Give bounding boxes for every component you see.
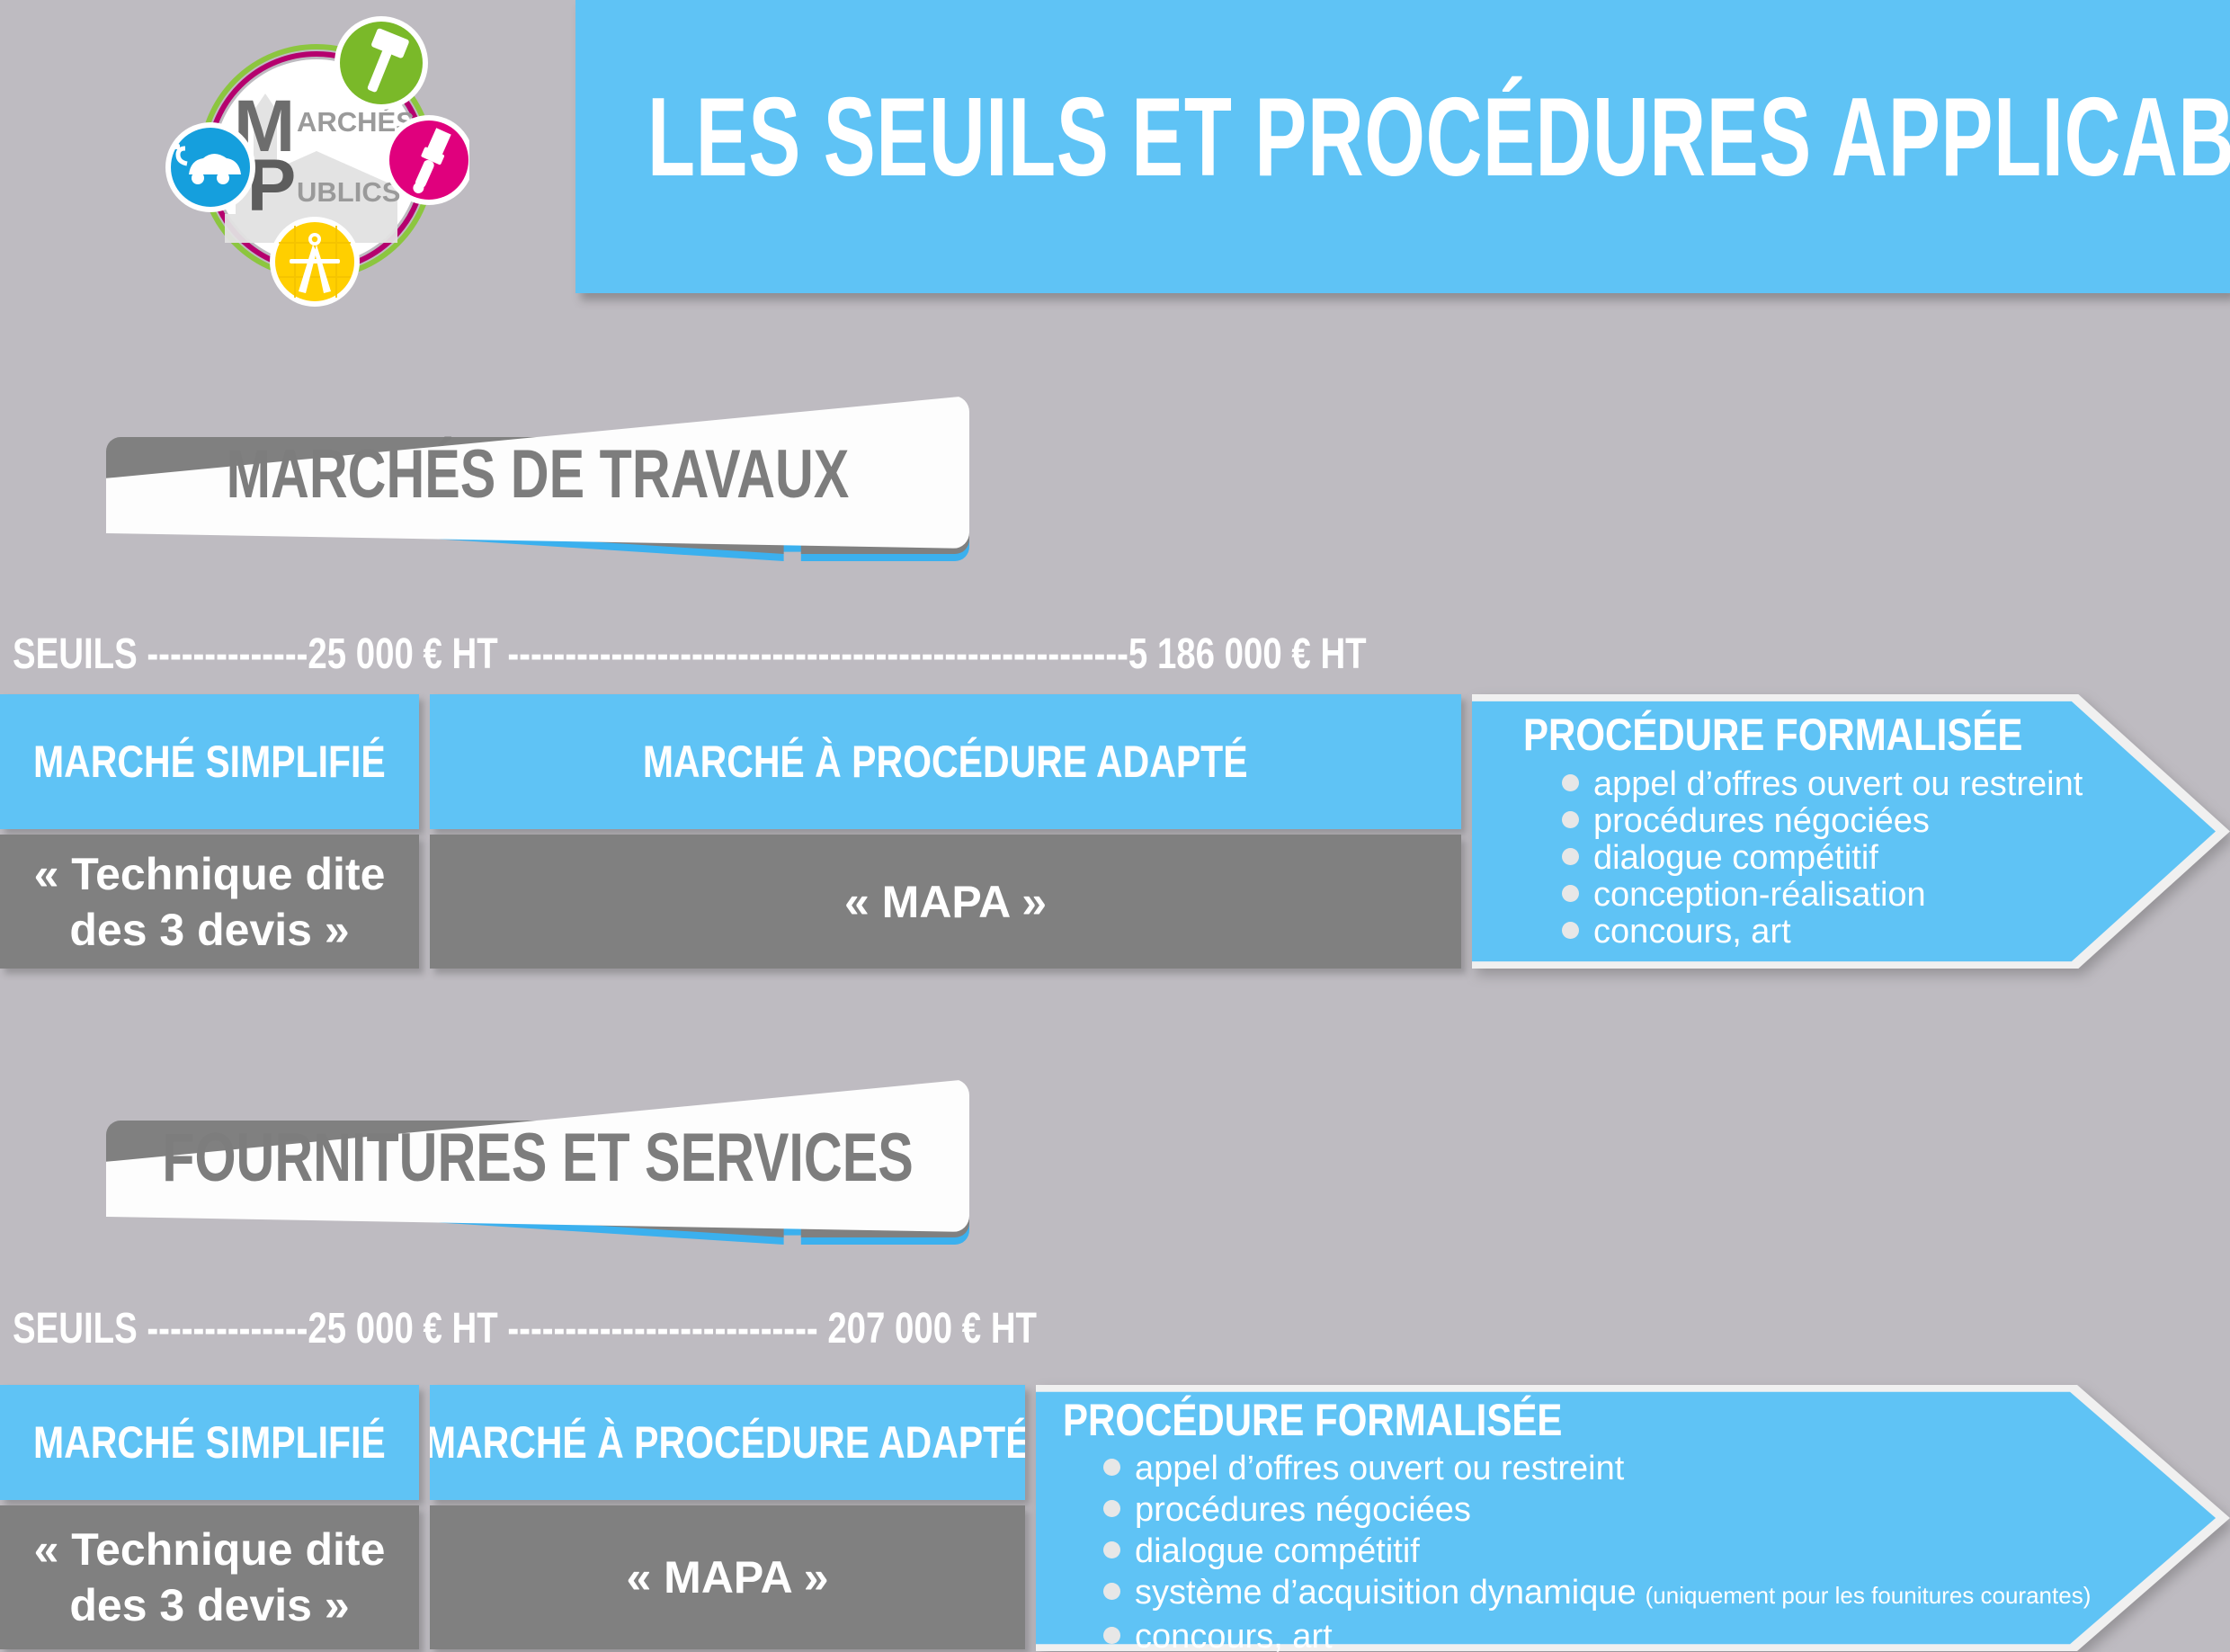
svg-text:UBLICS: UBLICS [297,176,400,208]
bullet-dot-icon [1103,1627,1120,1644]
section-ribbon-travaux: MARCHÉS DE TRAVAUX [106,396,969,576]
list-item: dialogue compétitif [1562,840,2083,877]
list-item-text: dialogue compétitif [1593,840,1878,877]
arrow-procedure-formalisee-travaux: PROCÉDURE FORMALISÉE appel d’offres ouve… [1472,694,2230,969]
cell-body-label: « Technique dite des 3 devis » [0,1522,419,1633]
marches-publics-logo: M ARCHÉS P UBLICS [164,7,469,313]
list-item-text: procédures négociées [1593,803,1930,840]
list-item-text: concours, art [1593,914,1791,951]
arrow-title: PROCÉDURE FORMALISÉE [1063,1396,1562,1444]
arrow-bullet-list: appel d’offres ouvert ou restreint procé… [1562,766,2083,951]
list-item-text: conception-réalisation [1593,877,1926,914]
header-banner: LES SEUILS ET PROCÉDURES APPLICABLES [575,0,2230,293]
seuils-line-travaux: SEUILS --------------25 000 € HT -------… [13,631,1367,678]
cell-body-technique-3-devis: « Technique dite des 3 devis » [0,835,419,969]
electric-vehicle-icon [165,122,255,212]
svg-text:P: P [247,145,297,227]
list-item: concours, art [1103,1616,2091,1652]
list-item: appel d’offres ouvert ou restreint [1103,1448,2091,1489]
cell-head-label: MARCHÉ À PROCÉDURE ADAPTÉ [430,1418,1025,1467]
procedures-band-travaux: MARCHÉ SIMPLIFIÉ « Technique dite des 3 … [0,694,2230,969]
slide-canvas: LES SEUILS ET PROCÉDURES APPLICABLES M A… [0,0,2230,1652]
hammer-icon [334,16,428,110]
list-item: procédures négociées [1562,803,2083,840]
compass-icon [270,217,360,307]
list-item-note: (uniquement pour les founitures courante… [1646,1575,2092,1616]
bullet-dot-icon [1562,885,1579,902]
list-item-text: concours, art [1135,1616,1333,1652]
ribbon-label-fournitures: FOURNITURES ET SERVICES [201,1079,875,1232]
list-item-text: dialogue compétitif [1135,1531,1420,1572]
cell-head-marche-simplifie: MARCHÉ SIMPLIFIÉ [0,1385,419,1500]
list-item-text: système d’acquisition dynamique [1135,1572,1637,1613]
bullet-dot-icon [1562,774,1579,791]
cell-head-marche-procedure-adapte: MARCHÉ À PROCÉDURE ADAPTÉ [430,694,1461,829]
cell-body-technique-3-devis: « Technique dite des 3 devis » [0,1505,419,1649]
cell-body-label: « MAPA » [835,874,1056,930]
ribbon-label-travaux: MARCHÉS DE TRAVAUX [201,396,875,549]
list-item: système d’acquisition dynamique (uniquem… [1103,1572,2091,1616]
cell-body-label: « MAPA » [617,1549,837,1605]
list-item: dialogue compétitif [1103,1531,2091,1572]
list-item: conception-réalisation [1562,877,2083,914]
bullet-dot-icon [1562,811,1579,828]
list-item-text: procédures négociées [1135,1489,1471,1531]
page-title: LES SEUILS ET PROCÉDURES APPLICABLES [647,70,1736,214]
seuils-line-fournitures: SEUILS --------------25 000 € HT -------… [13,1306,1037,1353]
bullet-dot-icon [1103,1500,1120,1517]
cell-head-marche-simplifie: MARCHÉ SIMPLIFIÉ [0,694,419,829]
cell-head-marche-procedure-adapte: MARCHÉ À PROCÉDURE ADAPTÉ [430,1385,1025,1500]
arrow-procedure-formalisee-fournitures: PROCÉDURE FORMALISÉE appel d’offres ouve… [1036,1385,2230,1651]
cell-head-label: MARCHÉ À PROCÉDURE ADAPTÉ [643,737,1248,786]
cell-head-label: MARCHÉ SIMPLIFIÉ [33,737,386,786]
list-item-text: appel d’offres ouvert ou restreint [1135,1448,1624,1489]
cell-head-label: MARCHÉ SIMPLIFIÉ [33,1418,386,1467]
arrow-bullet-list: appel d’offres ouvert ou restreint procé… [1103,1448,2091,1652]
bullet-dot-icon [1103,1459,1120,1476]
bullet-dot-icon [1562,848,1579,865]
bullet-dot-icon [1103,1541,1120,1558]
arrow-content: PROCÉDURE FORMALISÉE appel d’offres ouve… [1036,1385,2230,1651]
arrow-content: PROCÉDURE FORMALISÉE appel d’offres ouve… [1472,694,2230,969]
list-item: procédures négociées [1103,1489,2091,1531]
list-item: appel d’offres ouvert ou restreint [1562,766,2083,803]
list-item-text: appel d’offres ouvert ou restreint [1593,766,2083,803]
list-item: concours, art [1562,914,2083,951]
cell-body-mapa: « MAPA » [430,835,1461,969]
bullet-dot-icon [1562,922,1579,939]
procedures-band-fournitures: MARCHÉ SIMPLIFIÉ « Technique dite des 3 … [0,1385,2230,1652]
cell-body-label: « Technique dite des 3 devis » [0,846,419,958]
section-ribbon-fournitures: FOURNITURES ET SERVICES [106,1079,969,1259]
bullet-dot-icon [1103,1583,1120,1600]
cell-body-mapa: « MAPA » [430,1505,1025,1649]
arrow-title: PROCÉDURE FORMALISÉE [1523,710,2022,759]
